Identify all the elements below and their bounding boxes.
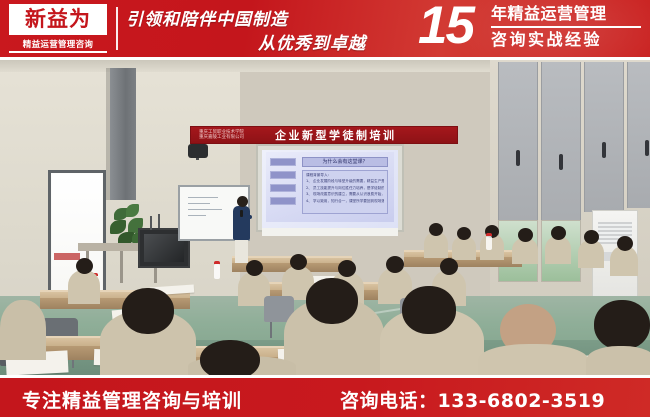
slide-body-line: 4、 学以致用，知行合一，课堂所学要回到现场落地。: [306, 199, 384, 203]
banner-organizations: 重庆工贸职业技术学院 重庆嘉陵工业有限公司: [199, 130, 271, 141]
banner-image-page: 新益为 精益运营管理咨询 引领和陪伴中国制造 从优秀到卓越 15 年精益运营管理…: [0, 0, 650, 417]
antenna-icon: [150, 216, 152, 230]
logo-tagline-wrap: 精益运营管理咨询: [9, 37, 107, 50]
attendee-head: [584, 230, 599, 244]
footer-phone[interactable]: 咨询电话：133-6802-3519: [340, 386, 605, 413]
microphone-icon: [240, 210, 243, 217]
attendee-head: [338, 260, 356, 277]
banner-org-line-2: 重庆嘉陵工业有限公司: [199, 135, 271, 141]
slogan-line-2: 从优秀到卓越: [258, 29, 366, 54]
slide-body-line: 3、 现场改善意识的建立，需要从认识浪费开始，持续改进永无止境；: [306, 192, 384, 196]
years-divider: [491, 26, 641, 28]
experience-block: 15 年精益运营管理 咨询实战经验: [418, 0, 643, 57]
window-blind: [498, 62, 538, 232]
event-banner: 重庆工贸职业技术学院 重庆嘉陵工业有限公司 企业新型学徒制培训: [190, 126, 458, 144]
company-logo: 新益为 精益运营管理咨询: [9, 4, 107, 54]
years-line-1: 年精益运营管理: [491, 3, 643, 25]
attendee-foreground: [478, 344, 588, 375]
attendee-head: [429, 223, 443, 236]
slide-body-line: 1、 企业发展阶段与转型升级的需要，精益生产是企业必由之路；: [306, 179, 384, 183]
years-text-stack: 年精益运营管理 咨询实战经验: [491, 3, 643, 51]
logo-underline: [9, 51, 107, 53]
attendee-head: [386, 256, 404, 273]
footer-bar: 专注精益管理咨询与培训 咨询电话：133-6802-3519: [0, 378, 650, 417]
slide-body: 课程背景导入： 1、 企业发展阶段与转型升级的需要，精益生产是企业必由之路； 2…: [302, 170, 388, 214]
banner-title: 企业新型学徒制培训: [275, 127, 397, 143]
slide-title: 为什么会有这堂课？: [302, 157, 388, 167]
header-slogan: 引领和陪伴中国制造 从优秀到卓越: [126, 3, 376, 55]
attendee-head: [440, 258, 458, 275]
attendee-head: [457, 227, 471, 240]
window-blind: [627, 62, 650, 208]
screen-bottom-edge: [262, 228, 398, 236]
slide-body-line: 课程背景导入：: [306, 173, 384, 177]
attendee-head: [617, 236, 633, 251]
presenter-legs: [235, 239, 248, 263]
bottle-cap: [214, 261, 220, 264]
attendee-head: [402, 286, 456, 334]
years-number: 15: [418, 0, 473, 54]
attendee-head: [594, 300, 650, 350]
wall-column: [110, 68, 136, 200]
slide-nav-boxes: [270, 158, 296, 214]
logo-name: 新益为: [25, 9, 91, 30]
water-bottle: [214, 264, 220, 279]
bottle-cap: [486, 233, 492, 236]
logo-tagline: 精益运营管理咨询: [23, 38, 93, 50]
attendee-head: [200, 340, 260, 375]
doorway-sign: [54, 253, 80, 260]
years-line-2: 咨询实战经验: [491, 29, 643, 51]
footer-tagline: 专注精益管理咨询与培训: [22, 386, 242, 413]
window-blind: [541, 62, 581, 238]
attendee-head: [290, 254, 307, 270]
attendee-head: [306, 278, 358, 324]
attendee: [578, 240, 604, 268]
presenter-head: [237, 196, 248, 207]
attendee: [68, 270, 100, 304]
attendee-head: [518, 228, 533, 242]
attendee-foreground: [586, 346, 650, 375]
attendee-head: [122, 288, 174, 334]
chair-leg: [270, 322, 272, 338]
attendee-foreground: [0, 300, 46, 360]
presenter-arm: [243, 215, 252, 219]
slogan-line-1: 引领和陪伴中国制造: [126, 5, 288, 30]
attendee-head: [551, 226, 566, 240]
header-divider: [116, 7, 118, 50]
camera-icon: [188, 144, 208, 158]
header-bar: 新益为 精益运营管理咨询 引领和陪伴中国制造 从优秀到卓越 15 年精益运营管理…: [0, 0, 650, 57]
antenna-icon: [158, 214, 160, 228]
window-blind: [584, 62, 624, 212]
slide-body-line: 2、 员工技能提升与岗位胜任力培养，是学徒制的核心任务；: [306, 186, 384, 190]
attendee: [545, 236, 571, 264]
attendee-head: [76, 258, 93, 274]
attendee-head: [246, 260, 263, 276]
water-bottle: [486, 236, 492, 250]
training-classroom-photo: 重庆工贸职业技术学院 重庆嘉陵工业有限公司 企业新型学徒制培训 为什么会有这堂课…: [0, 60, 650, 375]
logo-mark: 新益为: [9, 4, 107, 35]
